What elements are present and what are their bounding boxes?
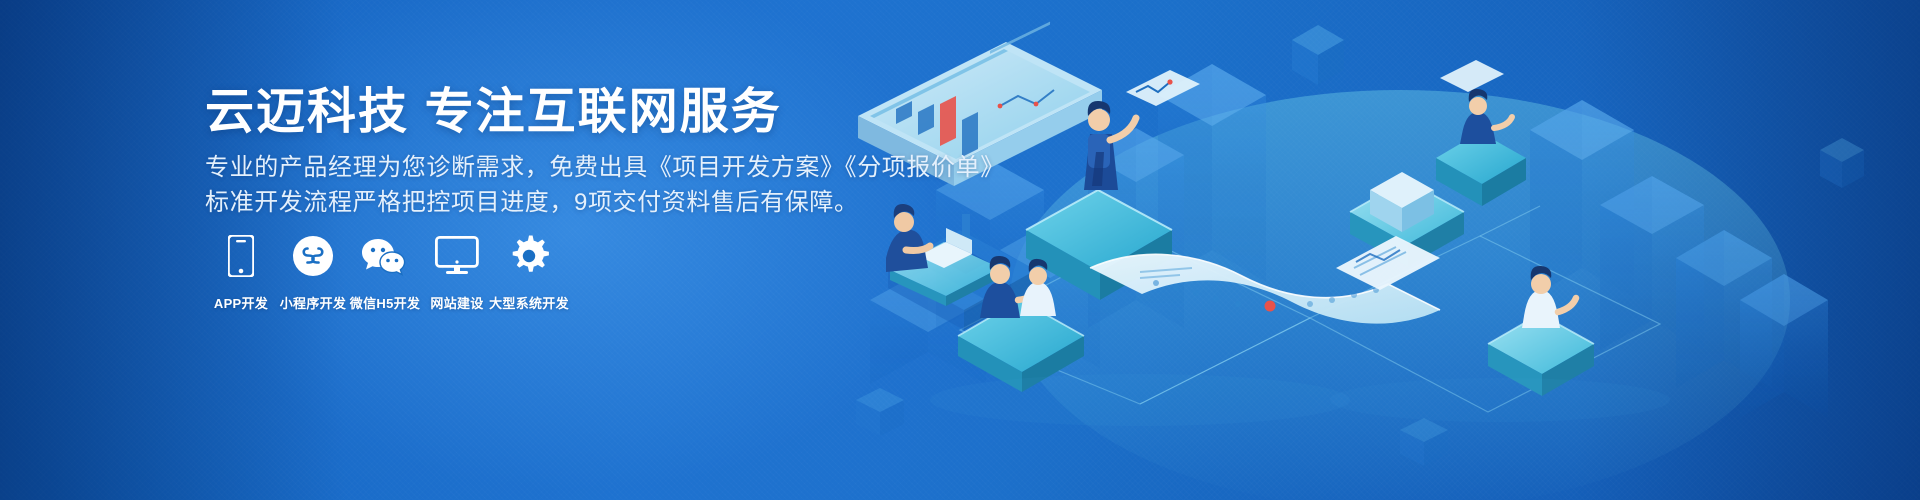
service-label: 大型系统开发 <box>489 293 569 312</box>
service-label: APP开发 <box>214 293 268 312</box>
service-icon-list: APP开发 小程序开发 <box>205 233 565 312</box>
service-item-system[interactable]: 大型系统开发 <box>493 233 565 312</box>
service-label: 网站建设 <box>430 293 483 312</box>
service-item-wechat[interactable]: 微信H5开发 <box>349 233 421 312</box>
service-label: 小程序开发 <box>280 293 347 312</box>
service-item-miniprogram[interactable]: 小程序开发 <box>277 233 349 312</box>
page-title: 云迈科技 专注互联网服务 <box>205 72 782 143</box>
mini-program-icon <box>292 233 334 279</box>
wechat-icon <box>361 233 409 279</box>
subtitle-line-1: 专业的产品经理为您诊断需求，免费出具《项目开发方案》《分项报价单》 <box>205 147 1005 182</box>
hero-banner: 云迈科技 专注互联网服务 专业的产品经理为您诊断需求，免费出具《项目开发方案》《… <box>0 0 1920 500</box>
service-item-app[interactable]: APP开发 <box>205 233 277 312</box>
service-label: 微信H5开发 <box>350 293 420 312</box>
gear-icon <box>508 233 550 279</box>
mobile-phone-icon <box>228 233 254 279</box>
subtitle-line-2: 标准开发流程严格把控项目进度，9项交付资料售后有保障。 <box>205 182 859 217</box>
service-item-website[interactable]: 网站建设 <box>421 233 493 312</box>
monitor-icon <box>435 233 479 279</box>
isometric-illustration <box>840 0 1920 500</box>
